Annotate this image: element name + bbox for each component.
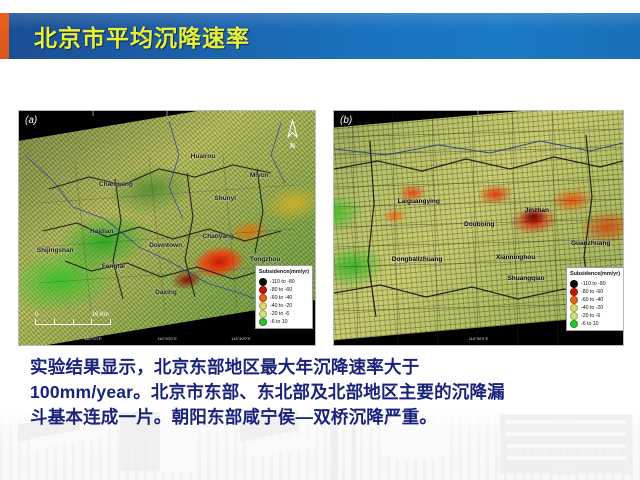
scale-min-label: 0: [35, 312, 38, 318]
legend-row: -40 to -20: [259, 302, 309, 310]
legend-row: -110 to -80: [570, 280, 620, 288]
body-line: 100mm/year。北京市东部、东北部及北部地区主要的沉降漏: [30, 380, 612, 405]
map-panel-a[interactable]: (a) Huairou Miyun Shunyi Changping Haidi…: [18, 110, 316, 346]
north-arrow-icon: N: [286, 119, 299, 150]
map-b-axis-ticks: 116°30'0"E: [334, 336, 623, 344]
legend-swatch: [570, 312, 578, 320]
legend-swatch: [570, 280, 578, 288]
panel-b-tag: (b): [340, 115, 352, 126]
body-line: 斗基本连成一片。朝阳东部咸宁侯—双桥沉降严重。: [30, 405, 612, 430]
body-line: 实验结果显示，北京东部地区最大年沉降速率大于: [30, 355, 612, 380]
axis-tick-label: 116°30'0"E: [469, 336, 489, 341]
place-label: Chaoyang: [203, 233, 234, 240]
legend-row: -6 to 10: [259, 318, 309, 326]
place-label: Jinzhan: [525, 207, 549, 214]
place-label: Huairou: [191, 153, 216, 160]
header-accent-bar: [0, 13, 9, 59]
legend-row: -20 to -6: [259, 310, 309, 318]
map-panel-b[interactable]: (b) Laiguangying Jinzhan Douboing Dongba…: [333, 110, 624, 346]
page-title: 北京市平均沉降速率: [34, 13, 250, 59]
map-a-axis-ticks: 116°0'0"E 116°20'0"E 116°40'0"E: [19, 336, 315, 344]
legend-label: -20 to -6: [581, 312, 600, 320]
north-arrow-glyph: [286, 119, 299, 139]
legend-label: -110 to -80: [270, 278, 295, 286]
legend-row: -60 to -40: [259, 294, 309, 302]
legend-label: -40 to -20: [581, 304, 603, 312]
legend-row: -40 to -20: [570, 304, 620, 312]
body-paragraph: 实验结果显示，北京东部地区最大年沉降速率大于 100mm/year。北京市东部、…: [30, 355, 612, 430]
legend-title: Subsidence(mm/yr): [570, 270, 620, 278]
place-label: Daxing: [155, 289, 177, 296]
place-label: Shijingshan: [37, 247, 74, 254]
place-label: Douboing: [464, 221, 494, 228]
legend-title: Subsidence(mm/yr): [259, 268, 309, 276]
legend-panel-a: Subsidence(mm/yr) -110 to -80 -80 to -60…: [255, 265, 313, 329]
legend-swatch: [570, 304, 578, 312]
place-label: Xianninghou: [496, 254, 535, 261]
legend-label: -6 to 10: [581, 320, 599, 328]
place-label: Guanzhuang: [571, 240, 610, 247]
place-label: Shuangqiao: [507, 275, 544, 282]
legend-label: -110 to -80: [581, 280, 606, 288]
north-label: N: [286, 143, 299, 150]
legend-row: -60 to -40: [570, 296, 620, 304]
legend-swatch: [570, 296, 578, 304]
legend-swatch: [259, 310, 267, 318]
place-label: Miyun: [250, 172, 269, 179]
legend-swatch: [570, 288, 578, 296]
place-label: Shunyi: [214, 195, 236, 202]
legend-label: -60 to -40: [270, 294, 292, 302]
axis-tick-label: 116°20'0"E: [157, 336, 177, 341]
axis-tick-label: 116°0'0"E: [84, 336, 101, 341]
place-label: Dongbalizhuang: [392, 256, 443, 263]
legend-swatch: [259, 302, 267, 310]
scale-bar-rule: [35, 319, 111, 325]
axis-tick-label: 116°40'0"E: [231, 336, 251, 341]
legend-row: -80 to -60: [570, 288, 620, 296]
legend-row: -110 to -80: [259, 278, 309, 286]
legend-swatch: [259, 286, 267, 294]
legend-row: -20 to -6: [570, 312, 620, 320]
scale-bar: 0 16 Km: [35, 312, 111, 325]
legend-swatch: [570, 320, 578, 328]
place-label: Fengtai: [102, 263, 125, 270]
legend-row: -80 to -60: [259, 286, 309, 294]
legend-label: -80 to -60: [270, 286, 292, 294]
place-label: Laiguangying: [398, 198, 440, 205]
legend-panel-b: Subsidence(mm/yr) -110 to -80 -80 to -60…: [566, 267, 624, 331]
place-label: Tongzhou: [250, 256, 281, 263]
legend-label: -60 to -40: [581, 296, 603, 304]
legend-label: -6 to 10: [270, 318, 288, 326]
legend-label: -20 to -6: [270, 310, 289, 318]
slide-header: 北京市平均沉降速率: [0, 13, 640, 59]
legend-swatch: [259, 318, 267, 326]
figure-row: (a) Huairou Miyun Shunyi Changping Haidi…: [0, 110, 640, 346]
scale-max-label: 16 Km: [92, 312, 109, 318]
legend-row: -6 to 10: [570, 320, 620, 328]
place-label: Haidian: [90, 228, 113, 235]
legend-label: -40 to -20: [270, 302, 292, 310]
legend-label: -80 to -60: [581, 288, 603, 296]
legend-swatch: [259, 278, 267, 286]
legend-swatch: [259, 294, 267, 302]
panel-a-tag: (a): [25, 115, 37, 126]
place-label: Downtown: [149, 242, 182, 249]
place-label: Changping: [99, 181, 133, 188]
